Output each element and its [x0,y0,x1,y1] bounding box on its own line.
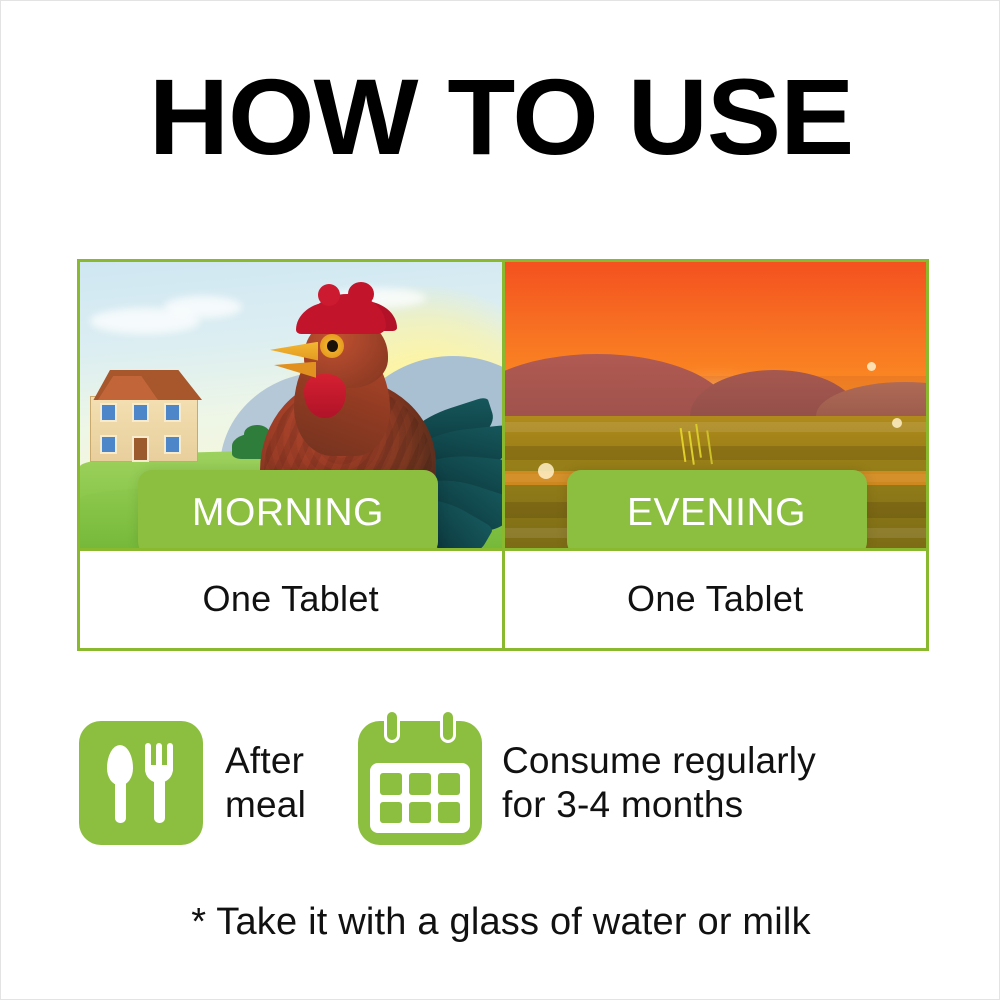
evening-time-label: EVENING [627,491,806,535]
calendar-page [370,763,470,833]
fork-icon [143,743,177,821]
evening-dose: One Tablet [502,551,927,648]
farmhouse-icon [88,370,200,462]
morning-time-badge: MORNING [138,470,438,548]
page-title: HOW TO USE [0,63,1000,171]
info-row: After meal Consume regularly for 3-4 mon… [79,717,939,849]
calendar-ring-icon [384,709,400,743]
usage-table: MORNING [77,259,929,651]
info-item-after-meal: After meal [79,721,306,845]
footnote: * Take it with a glass of water or milk [1,901,1000,944]
duration-label: Consume regularly for 3-4 months [502,739,816,826]
table-row-images: MORNING [80,262,926,548]
calendar-ring-icon [440,709,456,743]
morning-time-label: MORNING [192,491,384,535]
how-to-use-infographic: HOW TO USE [0,0,1000,1000]
morning-image-cell: MORNING [80,262,502,548]
table-row-dose: One Tablet One Tablet [80,548,926,648]
calendar-icon [358,721,482,845]
after-meal-label: After meal [225,739,306,826]
evening-image-cell: EVENING [502,262,927,548]
info-item-duration: Consume regularly for 3-4 months [358,721,816,845]
light-dot [867,362,876,371]
morning-dose: One Tablet [80,551,502,648]
light-dot [892,418,902,428]
rooster-pupil [327,340,338,352]
spoon-fork-icon [79,721,203,845]
evening-time-badge: EVENING [567,470,867,548]
rooster-comb [308,294,386,334]
spoon-icon [107,745,133,821]
rooster-beak-lower [274,362,316,378]
